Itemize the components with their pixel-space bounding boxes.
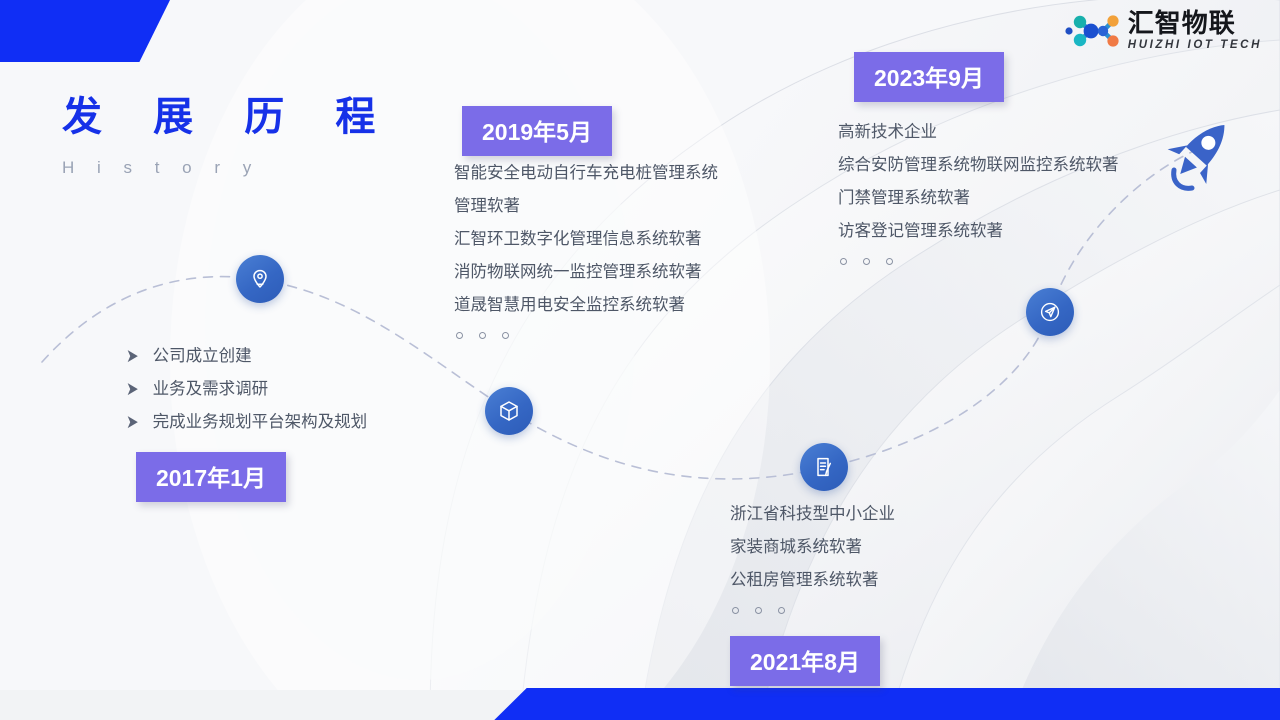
company-logo: 汇智物联 HUIZHI IOT TECH bbox=[1062, 10, 1262, 52]
milestone-body-2021: 浙江省科技型中小企业 家装商城系统软著 公租房管理系统软著 bbox=[730, 498, 895, 614]
list-item-label: 完成业务规划平台架构及规划 bbox=[153, 406, 368, 439]
page-title-cn: 发 展 历 程 bbox=[62, 96, 395, 138]
timeline-node-2023[interactable] bbox=[1026, 288, 1074, 336]
chevron-right-icon: ➤ bbox=[126, 347, 139, 366]
list-item: 智能安全电动自行车充电桩管理系统 bbox=[454, 157, 718, 190]
page-title: 发 展 历 程 H i s t o r y bbox=[62, 96, 395, 178]
milestone-body-2019: 智能安全电动自行车充电桩管理系统 管理软著 汇智环卫数字化管理信息系统软著 消防… bbox=[454, 157, 718, 339]
ellipsis-marker bbox=[730, 607, 895, 614]
list-item: 综合安防管理系统物联网监控系统软著 bbox=[838, 149, 1119, 182]
timeline-node-2021[interactable] bbox=[800, 443, 848, 491]
logo-name-en: HUIZHI IOT TECH bbox=[1128, 40, 1262, 52]
milestone-body-2017: ➤ 公司成立创建 ➤ 业务及需求调研 ➤ 完成业务规划平台架构及规划 bbox=[126, 340, 367, 439]
list-item-label: 公司成立创建 bbox=[153, 340, 252, 373]
list-item: 道晟智慧用电安全监控系统软著 bbox=[454, 289, 718, 322]
timeline-node-2017[interactable] bbox=[236, 255, 284, 303]
chevron-right-icon: ➤ bbox=[126, 380, 139, 399]
corner-accent-bottom-right bbox=[470, 688, 1280, 720]
list-item: ➤ 完成业务规划平台架构及规划 bbox=[126, 406, 367, 439]
list-item: 公租房管理系统软著 bbox=[730, 564, 895, 597]
cube-icon bbox=[497, 399, 521, 423]
timeline-node-2019[interactable] bbox=[485, 387, 533, 435]
list-item: 管理软著 bbox=[454, 190, 718, 223]
list-item: 高新技术企业 bbox=[838, 116, 1119, 149]
date-chip-2023: 2023年9月 bbox=[854, 52, 1004, 102]
list-item: ➤ 公司成立创建 bbox=[126, 340, 367, 373]
document-edit-icon bbox=[812, 455, 836, 479]
paper-plane-icon bbox=[1037, 299, 1063, 325]
list-item: 汇智环卫数字化管理信息系统软著 bbox=[454, 223, 718, 256]
chevron-right-icon: ➤ bbox=[126, 413, 139, 432]
date-chip-2017: 2017年1月 bbox=[136, 452, 286, 502]
slide-canvas: 发 展 历 程 H i s t o r y 汇智物联 HUIZHI IOT TE… bbox=[0, 0, 1280, 720]
list-item: ➤ 业务及需求调研 bbox=[126, 373, 367, 406]
molecule-icon bbox=[1062, 10, 1122, 52]
ellipsis-marker bbox=[838, 258, 1119, 265]
page-title-en: H i s t o r y bbox=[62, 158, 395, 178]
rocket-icon bbox=[1158, 108, 1244, 194]
list-item: 访客登记管理系统软著 bbox=[838, 215, 1119, 248]
date-chip-2019: 2019年5月 bbox=[462, 106, 612, 156]
date-chip-2021: 2021年8月 bbox=[730, 636, 880, 686]
list-item-label: 业务及需求调研 bbox=[153, 373, 269, 406]
milestone-body-2023: 高新技术企业 综合安防管理系统物联网监控系统软著 门禁管理系统软著 访客登记管理… bbox=[838, 116, 1119, 265]
corner-accent-top-left bbox=[0, 0, 170, 62]
list-item: 消防物联网统一监控管理系统软著 bbox=[454, 256, 718, 289]
list-item: 家装商城系统软著 bbox=[730, 531, 895, 564]
list-item: 浙江省科技型中小企业 bbox=[730, 498, 895, 531]
list-item: 门禁管理系统软著 bbox=[838, 182, 1119, 215]
logo-name-cn: 汇智物联 bbox=[1128, 10, 1236, 36]
ellipsis-marker bbox=[454, 332, 718, 339]
location-pin-icon bbox=[248, 267, 272, 291]
